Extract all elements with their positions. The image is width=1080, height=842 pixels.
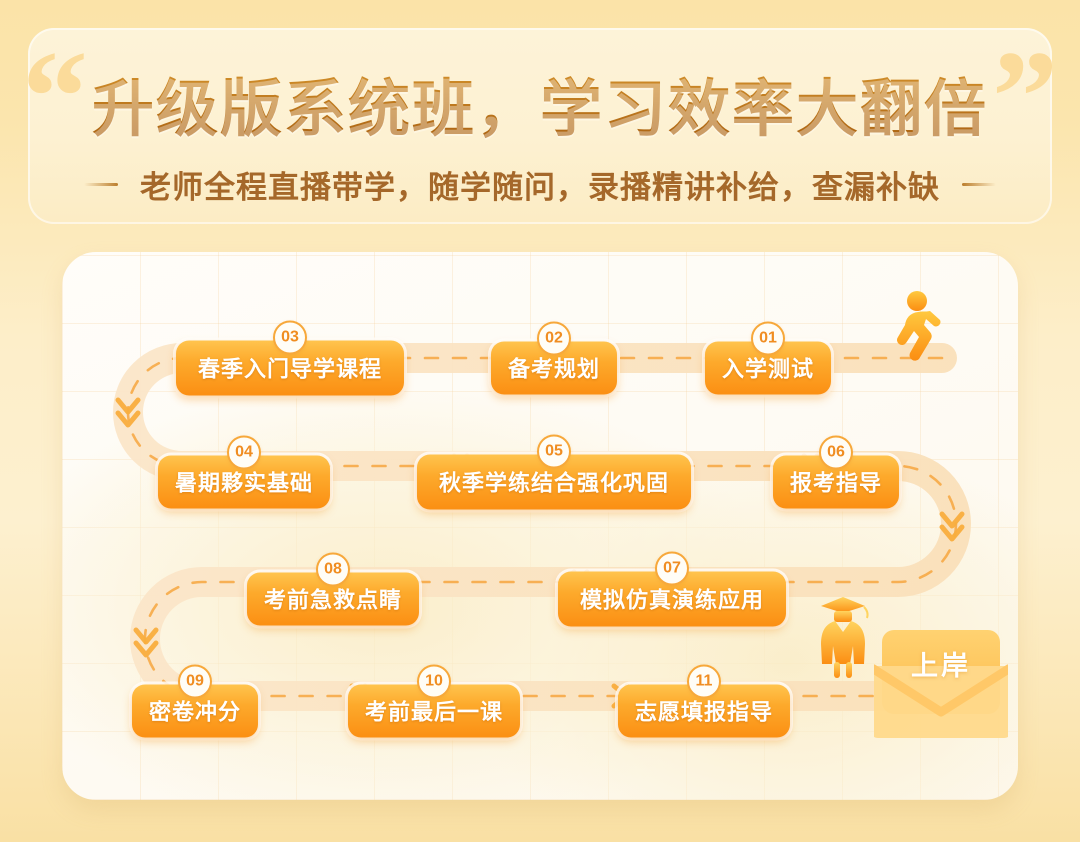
step-number-badge: 01 (751, 322, 785, 356)
flow-step-11[interactable]: 11志愿填报指导 (618, 665, 790, 738)
goal-label: 上岸 (874, 644, 1008, 683)
flow-step-01[interactable]: 01入学测试 (705, 322, 831, 395)
flow-step-02[interactable]: 02备考规划 (491, 322, 617, 395)
page-subtitle: 老师全程直播带学，随学随问，录播精讲补给，查漏补缺 (140, 162, 940, 207)
step-number-badge: 10 (417, 665, 451, 699)
step-number-badge: 11 (687, 665, 721, 699)
graduate-person-icon (815, 592, 871, 678)
step-number-badge: 03 (273, 321, 307, 355)
step-number-badge: 04 (227, 436, 261, 470)
flow-step-04[interactable]: 04暑期夥实基础 (158, 436, 330, 509)
flow-step-09[interactable]: 09密卷冲分 (132, 665, 258, 738)
flow-step-03[interactable]: 03春季入门导学课程 (176, 321, 404, 396)
step-number-badge: 06 (819, 436, 853, 470)
subtitle-dash-right (962, 183, 996, 186)
flow-step-06[interactable]: 06报考指导 (773, 436, 899, 509)
step-number-badge: 05 (537, 435, 571, 469)
step-number-badge: 07 (655, 552, 689, 586)
flow-step-10[interactable]: 10考前最后一课 (348, 665, 520, 738)
page-title: 升级版系统班，学习效率大翻倍 (0, 58, 1080, 148)
step-number-badge: 02 (537, 322, 571, 356)
flow-step-08[interactable]: 08考前急救点睛 (247, 553, 419, 626)
subtitle-dash-left (84, 183, 118, 186)
flow-step-05[interactable]: 05秋季学练结合强化巩固 (417, 435, 691, 510)
flow-step-07[interactable]: 07模拟仿真演练应用 (558, 552, 786, 627)
subtitle-row: 老师全程直播带学，随学随问，录播精讲补给，查漏补缺 (0, 162, 1080, 207)
step-number-badge: 08 (316, 553, 350, 587)
walking-person-icon (888, 290, 950, 362)
step-number-badge: 09 (178, 665, 212, 699)
